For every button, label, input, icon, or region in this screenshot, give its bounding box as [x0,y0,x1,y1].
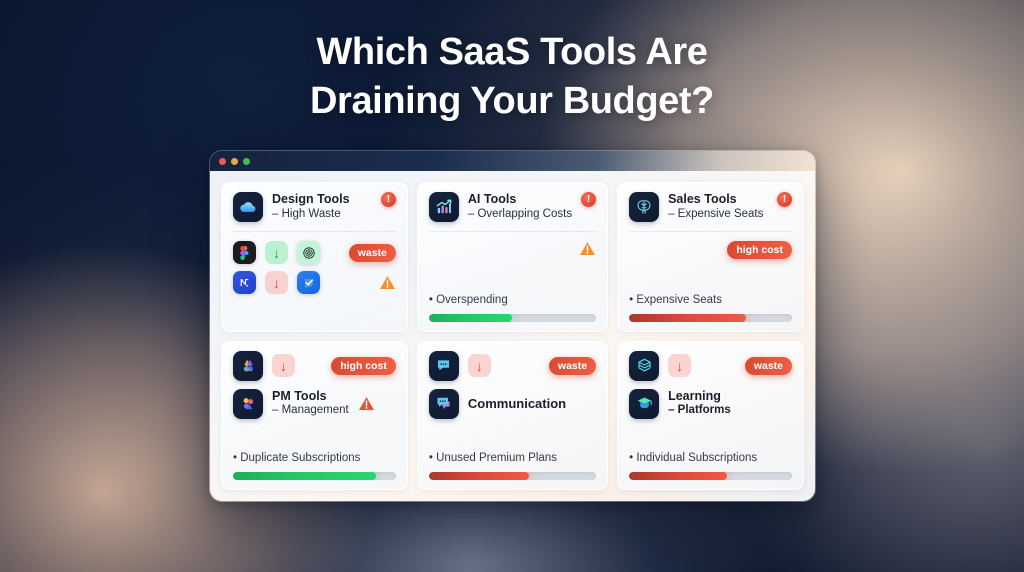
status-pill-high-cost[interactable]: high cost [331,357,396,375]
tool-icon-row: ↓ [233,271,396,294]
issue-label: • Duplicate Subscriptions [233,452,396,464]
window-titlebar [210,151,815,171]
status-pill-high-cost[interactable]: high cost [727,241,792,259]
arrow-down-red-icon: ↓ [272,354,295,377]
issue-label: • Individual Subscriptions [629,452,792,464]
issue-label: • Overspending [429,294,596,306]
cloud-icon [233,192,263,222]
title-line-2: Draining Your Budget? [0,77,1024,126]
app-window: Design Tools – High Waste ! [209,150,816,502]
brain-icon [629,192,659,222]
card-title-block: Design Tools – High Waste [272,192,372,222]
warning-triangle-icon [358,396,375,411]
card-ai-tools[interactable]: AI Tools – Overlapping Costs ! • Overspe… [417,182,608,332]
card-name: Learning [668,389,731,404]
issue-label: • Unused Premium Plans [429,452,596,464]
card-top-row: ↓ waste [629,351,792,381]
error-badge[interactable]: ! [777,192,792,207]
progress-bar [429,472,596,480]
arrow-down-red-icon: ↓ [668,354,691,377]
error-badge[interactable]: ! [381,192,396,207]
card-footer: • Individual Subscriptions [629,452,792,480]
graduation-cap-icon [629,389,659,419]
chat-bubble-icon[interactable] [429,351,459,381]
card-subtitle: – Overlapping Costs [468,207,572,222]
affinity-photo-icon [233,389,263,419]
card-status-row: high cost [629,232,792,259]
card-status-row [429,232,596,256]
progress-fill [233,472,376,480]
progress-fill [629,472,727,480]
progress-fill [629,314,746,322]
progress-fill [429,472,529,480]
openai-icon[interactable] [297,241,320,264]
card-subtitle: – Expensive Seats [668,207,768,222]
card-sales-tools[interactable]: Sales Tools – Expensive Seats ! high cos… [617,182,804,332]
progress-bar [429,314,596,322]
card-subtitle: – Platforms [668,403,731,418]
card-learning[interactable]: ↓ waste Learning – Platforms [617,341,804,491]
card-title-block: Sales Tools – Expensive Seats [668,192,768,222]
figma-icon[interactable] [233,241,256,264]
minimize-button[interactable] [231,158,238,165]
cards-grid: Design Tools – High Waste ! [210,171,815,502]
progress-bar [629,472,792,480]
arrow-down-red-icon: ↓ [265,271,288,294]
card-footer: • Duplicate Subscriptions [233,452,396,480]
tool-icon-row: ↓ waste [233,241,396,264]
card-header: Design Tools – High Waste ! [233,192,396,232]
close-button[interactable] [219,158,226,165]
card-name: AI Tools [468,192,572,207]
chart-icon [429,192,459,222]
card-footer: • Expensive Seats [629,294,792,322]
title-line-1: Which SaaS Tools Are [0,28,1024,77]
card-title-block: AI Tools – Overlapping Costs [468,192,572,222]
progress-fill [429,314,513,322]
progress-bar [629,314,792,322]
cube-box-icon[interactable] [629,351,659,381]
status-pill-waste[interactable]: waste [349,244,396,262]
card-footer: • Unused Premium Plans [429,452,596,480]
tool-icon-grid: ↓ waste [233,232,396,294]
card-pm-tools[interactable]: ↓ high cost PM Tools – Management [221,341,408,491]
warning-triangle-icon [379,275,396,290]
error-badge[interactable]: ! [581,192,596,207]
card-name: Design Tools [272,192,372,207]
arrow-down-red-icon: ↓ [468,354,491,377]
card-design-tools[interactable]: Design Tools – High Waste ! [221,182,408,332]
check-app-icon[interactable] [297,271,320,294]
status-pill-waste[interactable]: waste [549,357,596,375]
card-title-block: PM Tools – Management [272,389,349,419]
maximize-button[interactable] [243,158,250,165]
card-name: Sales Tools [668,192,768,207]
card-title-block: Learning – Platforms [668,389,731,419]
card-main-row: Learning – Platforms [629,389,792,419]
status-pill-waste[interactable]: waste [745,357,792,375]
card-footer: • Overspending [429,294,596,322]
card-name: PM Tools [272,389,349,404]
affinity-designer-icon[interactable] [233,351,263,381]
chat-bubbles-icon [429,389,459,419]
progress-bar [233,472,396,480]
arrow-down-green-icon: ↓ [265,241,288,264]
card-header: AI Tools – Overlapping Costs ! [429,192,596,232]
card-main-row: PM Tools – Management [233,389,396,419]
card-subtitle: – High Waste [272,207,372,222]
card-main-row: Communication [429,389,596,419]
page-title: Which SaaS Tools Are Draining Your Budge… [0,28,1024,127]
issue-label: • Expensive Seats [629,294,792,306]
card-top-row: ↓ high cost [233,351,396,381]
card-top-row: ↓ waste [429,351,596,381]
warning-triangle-icon [579,241,596,256]
notion-icon[interactable] [233,271,256,294]
card-communication[interactable]: ↓ waste Communication [417,341,608,491]
card-title-block: Communication [468,396,566,411]
card-body: high cost • Expensive Seats [629,232,792,322]
card-header: Sales Tools – Expensive Seats ! [629,192,792,232]
card-subtitle: – Management [272,403,349,418]
card-body: • Overspending [429,232,596,322]
card-name: Communication [468,396,566,411]
